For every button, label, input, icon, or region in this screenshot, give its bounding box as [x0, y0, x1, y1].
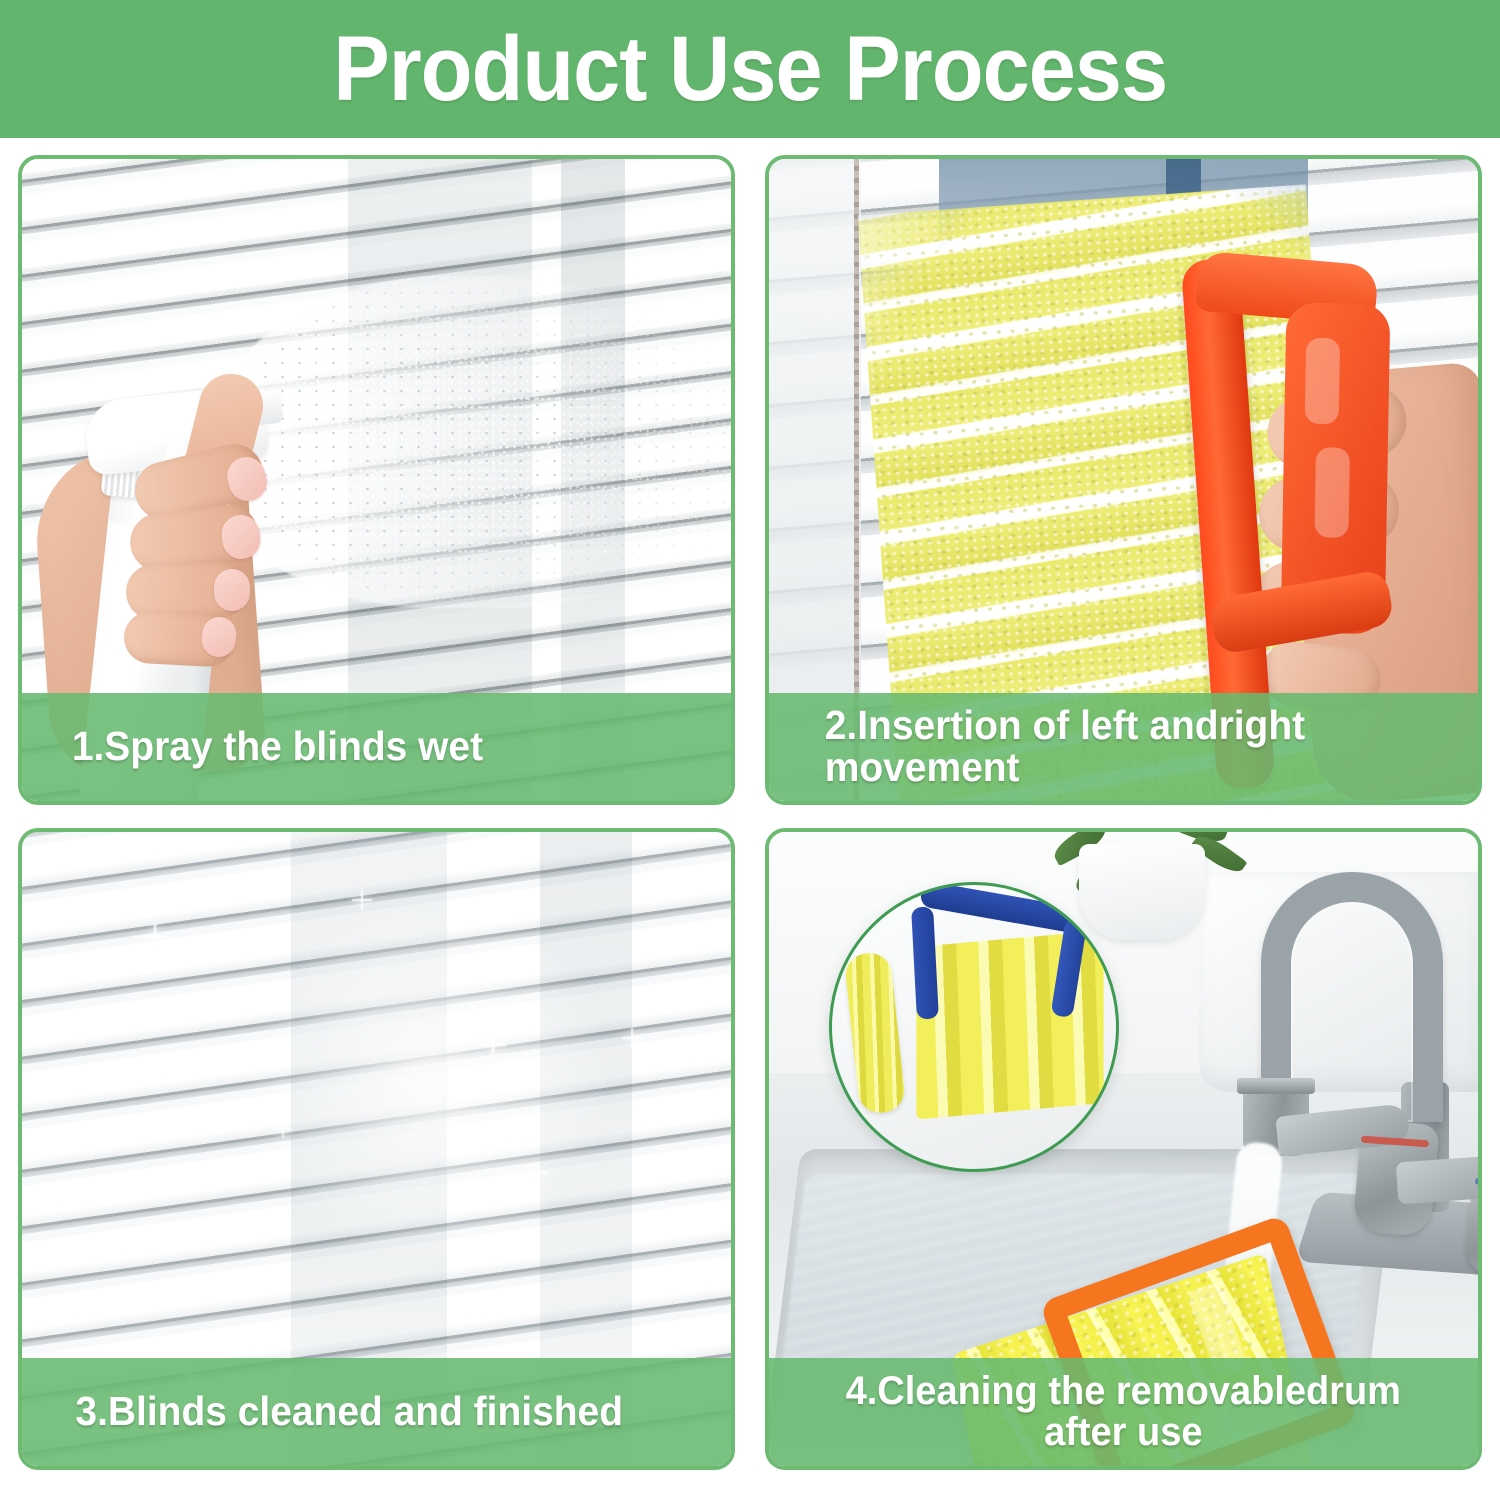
steps-grid: 1.Spray the blinds wet: [18, 155, 1482, 1470]
handle-hole-graphic: [1314, 447, 1350, 538]
product-detail-inset: [829, 882, 1119, 1172]
step-caption-bar-4: 4.Cleaning the removabledrum after use: [769, 1358, 1478, 1466]
step-caption-bar-2: 2.Insertion of left andright movement: [769, 693, 1478, 801]
step-panel-2[interactable]: 2.Insertion of left andright movement: [765, 155, 1482, 805]
sparkle-icon: [480, 1032, 506, 1058]
step-caption-text-2: 2.Insertion of left andright movement: [787, 705, 1461, 789]
step-caption-bar-3: 3.Blinds cleaned and finished: [22, 1358, 731, 1466]
sparkle-icon: [352, 890, 372, 910]
faucet-aerator-ring-graphic: [1237, 1078, 1315, 1094]
removable-sleeve-graphic: [844, 951, 906, 1115]
step-panel-4[interactable]: 4.Cleaning the removabledrum after use: [765, 828, 1482, 1470]
sparkle-icon: [142, 924, 168, 950]
handle-hole-graphic: [1305, 338, 1340, 425]
faucet-lever-cold-graphic: [1396, 1154, 1478, 1205]
step-panel-1[interactable]: 1.Spray the blinds wet: [18, 155, 735, 805]
sparkle-icon: [274, 1120, 292, 1138]
light-glow-graphic: [235, 908, 625, 1257]
step-caption-text-4: 4.Cleaning the removabledrum after use: [846, 1371, 1401, 1453]
sparkle-icon: [527, 1162, 549, 1184]
header-banner: Product Use Process: [0, 0, 1500, 138]
plant-pot-graphic: [1079, 844, 1205, 940]
sparkle-icon: [622, 1028, 642, 1048]
step-caption-text-3: 3.Blinds cleaned and finished: [37, 1391, 623, 1433]
inset-blue-handle-leg-graphic: [911, 907, 939, 1020]
step-caption-bar-1: 1.Spray the blinds wet: [22, 693, 731, 801]
page-title: Product Use Process: [333, 23, 1167, 115]
fingernail-graphic: [214, 569, 250, 611]
step-panel-3[interactable]: 3.Blinds cleaned and finished: [18, 828, 735, 1470]
step-caption-text-1: 1.Spray the blinds wet: [34, 726, 483, 768]
